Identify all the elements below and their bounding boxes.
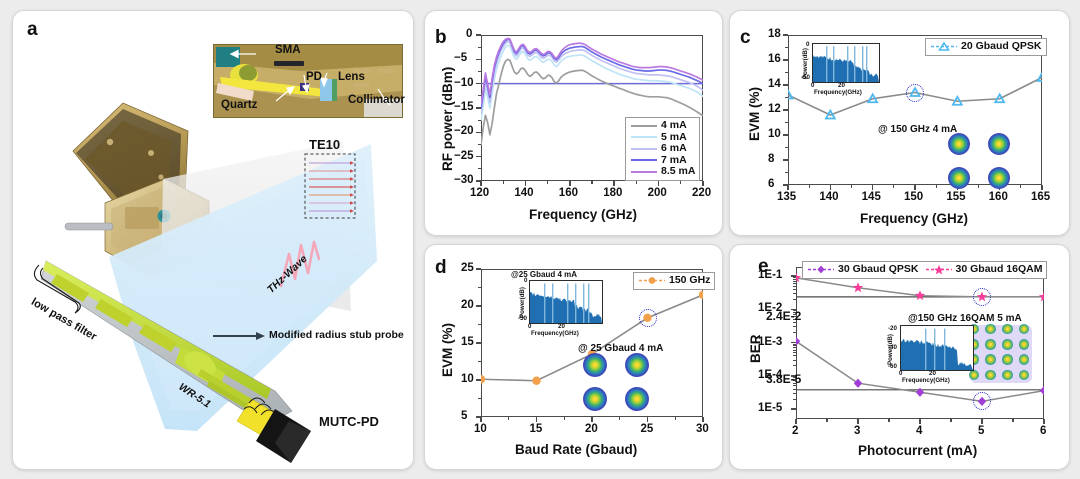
axis-tick	[478, 287, 481, 288]
panel-c-constellation	[948, 133, 1020, 191]
legend-row[interactable]: 20 Gbaud QPSK	[930, 41, 1042, 53]
axis-tick	[636, 181, 637, 184]
legend-row[interactable]: 4 mA	[630, 120, 695, 132]
tick-label: 30	[696, 423, 709, 435]
tick-label: −20	[454, 125, 474, 137]
axis-tick	[793, 345, 796, 346]
axis-tick	[793, 393, 796, 394]
constellation-point	[988, 167, 1010, 189]
axis-tick	[783, 109, 788, 111]
constellation-point	[985, 370, 996, 381]
tick-label: 135	[777, 191, 796, 203]
axis-tick	[478, 361, 481, 362]
panel-e-inset-ytick-0: -20	[888, 325, 897, 332]
highlighted-data-point	[906, 84, 924, 102]
constellation-point	[985, 339, 996, 350]
axis-tick	[793, 350, 796, 351]
axis-tick	[1012, 419, 1013, 422]
axis-tick	[793, 347, 796, 348]
axis-tick	[914, 185, 916, 190]
axis-tick	[476, 132, 481, 134]
legend-swatch	[925, 264, 953, 275]
axis-tick	[795, 419, 797, 424]
axis-tick	[476, 34, 481, 36]
axis-tick	[675, 417, 676, 420]
tick-label: 12	[768, 103, 781, 115]
tick-label: 10	[474, 423, 487, 435]
legend-swatch	[630, 121, 658, 131]
panel-a-label: a	[27, 19, 38, 41]
axis-tick	[564, 417, 565, 420]
axis-tick	[793, 355, 796, 356]
panel-d-inset-xtick-0: 0	[528, 323, 531, 330]
axis-tick	[525, 181, 527, 186]
axis-tick	[793, 293, 796, 294]
panel-c-inset-spectrum: 0 -50 Power(dB) 0 20 Frequency(GHz)	[794, 39, 882, 97]
constellation-point	[625, 387, 649, 411]
tick-label: 1E-5	[758, 402, 782, 414]
axis-tick	[793, 289, 796, 290]
panel-e-inset-spectrum: -20 -40 -60 Power(dB) 0 20 Frequency(GHz…	[878, 323, 978, 385]
axis-tick	[793, 277, 796, 278]
tick-label: 4	[916, 425, 922, 437]
tick-label: 120	[470, 187, 489, 199]
axis-tick	[1020, 185, 1021, 188]
constellation-point	[948, 167, 970, 189]
tick-label: 165	[1031, 191, 1050, 203]
tick-label: 5	[978, 425, 984, 437]
label-sma: SMA	[275, 44, 301, 56]
axis-tick	[793, 286, 796, 287]
highlighted-data-point	[973, 288, 991, 306]
legend-swatch	[630, 155, 658, 165]
axis-tick	[919, 419, 921, 424]
tick-label: 10	[768, 128, 781, 140]
panel-d-inset-ytick-0: 0	[524, 277, 527, 284]
panel-d-ylabel: EVM (%)	[440, 323, 455, 377]
constellation-point	[988, 133, 1010, 155]
panel-b-xlabel: Frequency (GHz)	[529, 207, 637, 222]
panel-d: d EVM (%) Baud Rate (Gbaud) 510152025 10…	[424, 244, 723, 470]
axis-tick	[613, 181, 615, 186]
axis-tick	[783, 134, 788, 136]
axis-tick	[478, 168, 481, 169]
label-quartz: Quartz	[221, 99, 257, 111]
axis-tick	[793, 299, 796, 300]
axis-tick	[785, 147, 788, 148]
legend-row[interactable]: 30 Gbaud QPSK	[807, 264, 919, 276]
legend-swatch	[630, 132, 658, 142]
tick-label: 180	[603, 187, 622, 199]
axis-tick	[478, 120, 481, 121]
axis-tick	[793, 281, 796, 282]
axis-tick	[1041, 185, 1043, 190]
axis-tick	[888, 419, 889, 422]
tick-label: −15	[454, 101, 474, 113]
tick-label: 20	[585, 423, 598, 435]
legend-swatch	[630, 144, 658, 154]
tick-label: −5	[454, 52, 467, 64]
axis-tick	[793, 352, 796, 353]
tick-label: −25	[454, 150, 474, 162]
panel-d-annotation: @ 25 Gbaud 4 mA	[578, 343, 663, 354]
panel-d-constellation	[583, 353, 659, 415]
label-mutc-pd: MUTC-PD	[319, 414, 379, 429]
axis-tick	[658, 181, 660, 186]
panel-c-inset-ylabel: Power(dB)	[802, 48, 809, 79]
axis-tick	[591, 181, 592, 184]
panel-e-annotation: @150 GHz 16QAM 5 mA	[908, 313, 1022, 324]
axis-tick	[830, 185, 832, 190]
legend-swatch	[930, 41, 958, 52]
axis-tick	[478, 47, 481, 48]
legend-row[interactable]: 8.5 mA	[630, 166, 695, 178]
axis-tick	[536, 417, 538, 422]
tick-label: 2	[792, 425, 798, 437]
axis-tick	[783, 84, 788, 86]
tick-label: 160	[559, 187, 578, 199]
axis-tick	[785, 97, 788, 98]
tick-label: 18	[768, 28, 781, 40]
tick-label: 0	[466, 28, 472, 40]
axis-tick	[783, 159, 788, 161]
legend-label: 4 mA	[661, 120, 687, 132]
tick-label: 6	[1040, 425, 1046, 437]
axis-tick	[936, 185, 937, 188]
axis-tick	[702, 181, 704, 186]
tick-label: 150	[904, 191, 923, 203]
axis-tick	[476, 107, 481, 109]
axis-tick	[569, 181, 571, 186]
panel-b: b RF power (dBm) Frequency (GHz) 0−5−10−…	[424, 10, 723, 236]
axis-tick	[476, 305, 481, 307]
panel-e-legend[interactable]: 30 Gbaud QPSK30 Gbaud 16QAM	[802, 261, 1047, 279]
axis-tick	[702, 417, 704, 422]
axis-tick	[950, 419, 951, 422]
constellation-point	[1002, 324, 1013, 335]
panel-c-inset-xlabel: Frequency(GHz)	[814, 89, 862, 96]
tick-label: 220	[692, 187, 711, 199]
constellation-point	[625, 353, 649, 377]
tick-label: 140	[514, 187, 533, 199]
panel-b-label: b	[435, 27, 447, 49]
panel-a: a	[12, 10, 414, 470]
tick-label: 15	[530, 423, 543, 435]
axis-tick	[872, 185, 874, 190]
panel-e-reference-label-1: 2.4E-2	[766, 309, 801, 323]
panel-e-xlabel: Photocurrent (mA)	[858, 443, 977, 458]
constellation-point	[1002, 370, 1013, 381]
panel-e-inset-xlabel: Frequency(GHz)	[902, 377, 950, 384]
label-lens: Lens	[338, 71, 365, 83]
axis-tick	[547, 181, 548, 184]
panel-d-inset-xlabel: Frequency(GHz)	[531, 330, 579, 337]
panel-c-legend[interactable]: 20 Gbaud QPSK	[925, 38, 1047, 56]
axis-tick	[478, 144, 481, 145]
constellation-point	[1019, 339, 1030, 350]
constellation-point	[1002, 339, 1013, 350]
legend-swatch	[807, 264, 835, 275]
panel-c: c EVM (%) Frequency (GHz) 681012141618 1…	[729, 10, 1070, 236]
axis-tick	[1043, 419, 1045, 424]
panel-d-label: d	[435, 257, 447, 279]
axis-tick	[476, 59, 481, 61]
panel-c-xlabel: Frequency (GHz)	[860, 211, 968, 226]
label-collimator: Collimator	[348, 94, 405, 106]
axis-tick	[647, 417, 649, 422]
panel-c-ylabel: EVM (%)	[747, 87, 762, 141]
panel-d-inset-ylabel: Power(dB)	[519, 287, 526, 318]
tick-label: 15	[461, 336, 474, 348]
legend-label: 30 Gbaud QPSK	[838, 264, 919, 276]
axis-tick	[793, 365, 796, 366]
axis-tick	[793, 279, 796, 280]
constellation-point	[583, 387, 607, 411]
axis-tick	[793, 283, 796, 284]
panel-e-inset-xtick-0: 0	[899, 370, 902, 377]
axis-tick	[478, 398, 481, 399]
axis-tick	[591, 417, 593, 422]
constellation-point	[1002, 354, 1013, 365]
axis-tick	[783, 59, 788, 61]
legend-label: 150 GHz	[669, 275, 710, 287]
axis-tick	[783, 34, 788, 36]
constellation-point	[1019, 354, 1030, 365]
panel-c-inset-ytick-0: 0	[806, 41, 809, 48]
axis-tick	[503, 181, 504, 184]
axis-tick	[785, 122, 788, 123]
axis-tick	[476, 268, 481, 270]
tick-label: 155	[946, 191, 965, 203]
axis-tick	[793, 389, 796, 390]
axis-tick	[793, 326, 796, 327]
figure-root: a	[0, 0, 1080, 479]
axis-tick	[478, 95, 481, 96]
axis-tick	[981, 419, 983, 424]
panel-e: e BER Photocurrent (mA) 1E-11E-21E-31E-4…	[729, 244, 1070, 470]
axis-tick	[619, 417, 620, 420]
legend-row[interactable]: 30 Gbaud 16QAM	[925, 264, 1043, 276]
axis-tick	[480, 181, 482, 186]
axis-tick	[857, 419, 859, 424]
axis-tick	[793, 332, 796, 333]
axis-tick	[785, 172, 788, 173]
axis-tick	[793, 344, 796, 345]
panel-d-xlabel: Baud Rate (Gbaud)	[515, 442, 637, 457]
legend-swatch	[630, 167, 658, 177]
tick-label: 1E-3	[758, 336, 782, 348]
panel-b-legend[interactable]: 4 mA5 mA6 mA7 mA8.5 mA	[625, 117, 700, 181]
tick-label: 160	[989, 191, 1008, 203]
constellation-point	[985, 324, 996, 335]
legend-row[interactable]: 150 GHz	[638, 275, 710, 287]
panel-c-inset-xtick-0: 0	[811, 82, 814, 89]
axis-tick	[680, 181, 681, 184]
panel-e-inset-xtick-1: 20	[929, 370, 936, 377]
tick-label: 10	[461, 373, 474, 385]
axis-tick	[826, 419, 827, 422]
axis-tick	[787, 185, 789, 190]
constellation-point	[583, 353, 607, 377]
panel-b-ylabel: RF power (dBm)	[440, 67, 455, 171]
panel-d-inset-title: @25 Gbaud 4 mA	[511, 270, 577, 279]
tick-label: 25	[461, 262, 474, 274]
axis-tick	[478, 324, 481, 325]
axis-tick	[793, 399, 796, 400]
panel-c-label: c	[740, 27, 751, 49]
tick-label: 5	[461, 410, 467, 422]
tick-label: 25	[641, 423, 654, 435]
tick-label: 8	[768, 153, 774, 165]
axis-tick	[476, 342, 481, 344]
tick-label: 145	[862, 191, 881, 203]
highlighted-data-point	[639, 309, 657, 327]
tick-label: −30	[454, 174, 474, 186]
panel-d-inset-xtick-1: 20	[558, 323, 565, 330]
axis-tick	[793, 360, 796, 361]
constellation-point	[985, 354, 996, 365]
panel-e-inset-ylabel: Power(dB)	[887, 334, 894, 365]
label-stub-probe: Modified radius stub probe	[269, 329, 404, 341]
panel-e-reference-label-2: 3.8E-5	[766, 372, 801, 386]
panel-e-constellation	[970, 325, 1032, 383]
axis-tick	[791, 408, 796, 410]
panel-e-label: e	[758, 256, 769, 278]
axis-tick	[508, 417, 509, 420]
axis-tick	[476, 379, 481, 381]
legend-row[interactable]: 6 mA	[630, 143, 695, 155]
tick-label: 140	[819, 191, 838, 203]
tick-label: 20	[461, 299, 474, 311]
label-te10: TE10	[309, 137, 340, 152]
panel-d-legend[interactable]: 150 GHz	[633, 272, 715, 290]
tick-label: −10	[454, 77, 474, 89]
axis-tick	[893, 185, 894, 188]
panel-c-annotation: @ 150 GHz 4 mA	[878, 124, 957, 135]
axis-tick	[785, 72, 788, 73]
axis-tick	[478, 71, 481, 72]
legend-label: 8.5 mA	[661, 166, 695, 178]
panel-c-inset-xtick-1: 20	[838, 82, 845, 89]
constellation-point	[948, 133, 970, 155]
axis-tick	[476, 156, 481, 158]
axis-tick	[851, 185, 852, 188]
axis-tick	[476, 83, 481, 85]
panel-d-inset-spectrum: @25 Gbaud 4 mA 0 -50 Power(dB) 0 20 Freq…	[509, 270, 609, 338]
legend-label: 6 mA	[661, 143, 687, 155]
tick-label: 200	[648, 187, 667, 199]
tick-label: 14	[768, 78, 781, 90]
legend-label: 30 Gbaud 16QAM	[956, 264, 1043, 276]
legend-swatch	[638, 275, 666, 286]
tick-label: 6	[768, 178, 774, 190]
legend-label: 20 Gbaud QPSK	[961, 41, 1042, 53]
axis-tick	[785, 47, 788, 48]
axis-tick	[809, 185, 810, 188]
tick-label: 16	[768, 53, 781, 65]
label-pd: PD	[306, 71, 322, 83]
axis-tick	[480, 417, 482, 422]
tick-label: 3	[854, 425, 860, 437]
